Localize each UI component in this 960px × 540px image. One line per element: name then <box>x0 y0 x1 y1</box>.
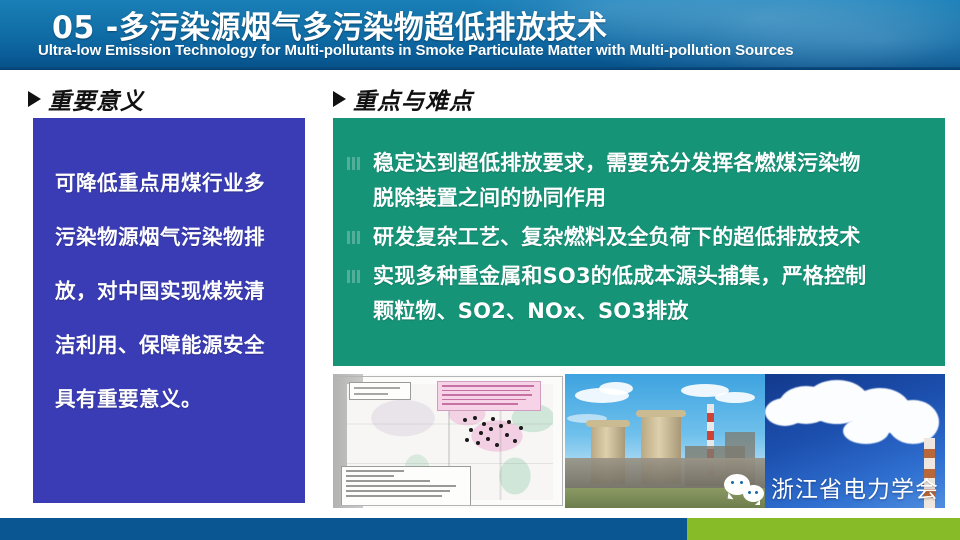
wechat-watermark: 浙江省电力学会 <box>724 470 939 504</box>
list-item: 研发复杂工艺、复杂燃料及全负荷下的超低排放技术 <box>347 220 931 255</box>
page-title: 05 -多污染源烟气多污染物超低排放技术 <box>52 2 608 47</box>
page-subtitle: Ultra-low Emission Technology for Multi-… <box>38 42 793 59</box>
footer-bar-right <box>687 518 960 540</box>
bullet-text: 稳定达到超低排放要求，需要充分发挥各燃煤污染物 脱除装置之间的协同作用 <box>373 146 861 216</box>
tick-bullet-icon <box>347 157 369 170</box>
bullet-text: 研发复杂工艺、复杂燃料及全负荷下的超低排放技术 <box>373 220 861 255</box>
footer-bar-left <box>0 518 687 540</box>
significance-line: 洁利用、保障能源安全 <box>55 318 283 372</box>
watermark-label: 浙江省电力学会 <box>771 470 939 504</box>
key-difficulties-content-box: 稳定达到超低排放要求，需要充分发挥各燃煤污染物 脱除装置之间的协同作用 研发复杂… <box>333 118 945 366</box>
tick-bullet-icon <box>347 270 369 283</box>
bullet-text: 实现多种重金属和SO3的低成本源头捕集，严格控制 颗粒物、SO2、NOx、SO3… <box>373 259 866 329</box>
significance-line: 污染物源烟气污染物排 <box>55 210 283 264</box>
slide-header: 05 -多污染源烟气多污染物超低排放技术 Ultra-low Emission … <box>0 0 960 70</box>
right-section-heading-label: 重点与难点 <box>353 82 473 116</box>
significance-content-box: 可降低重点用煤行业多 污染物源烟气污染物排 放，对中国实现煤炭清 洁利用、保障能… <box>33 118 305 503</box>
triangle-right-icon <box>333 91 346 107</box>
list-item: 稳定达到超低排放要求，需要充分发挥各燃煤污染物 脱除装置之间的协同作用 <box>347 146 931 216</box>
slide-footer <box>0 518 960 540</box>
list-item: 实现多种重金属和SO3的低成本源头捕集，严格控制 颗粒物、SO2、NOx、SO3… <box>347 259 931 329</box>
left-section-heading-label: 重要意义 <box>48 82 144 116</box>
left-section-heading: 重要意义 <box>28 82 144 116</box>
wechat-icon <box>724 472 764 502</box>
significance-line: 放，对中国实现煤炭清 <box>55 264 283 318</box>
right-section-heading: 重点与难点 <box>333 82 473 116</box>
image-strip: 浙江省电力学会 <box>333 374 945 508</box>
china-coal-distribution-map <box>333 374 565 508</box>
significance-line: 具有重要意义。 <box>55 372 283 426</box>
tick-bullet-icon <box>347 231 369 244</box>
significance-line: 可降低重点用煤行业多 <box>55 156 283 210</box>
triangle-right-icon <box>28 91 41 107</box>
